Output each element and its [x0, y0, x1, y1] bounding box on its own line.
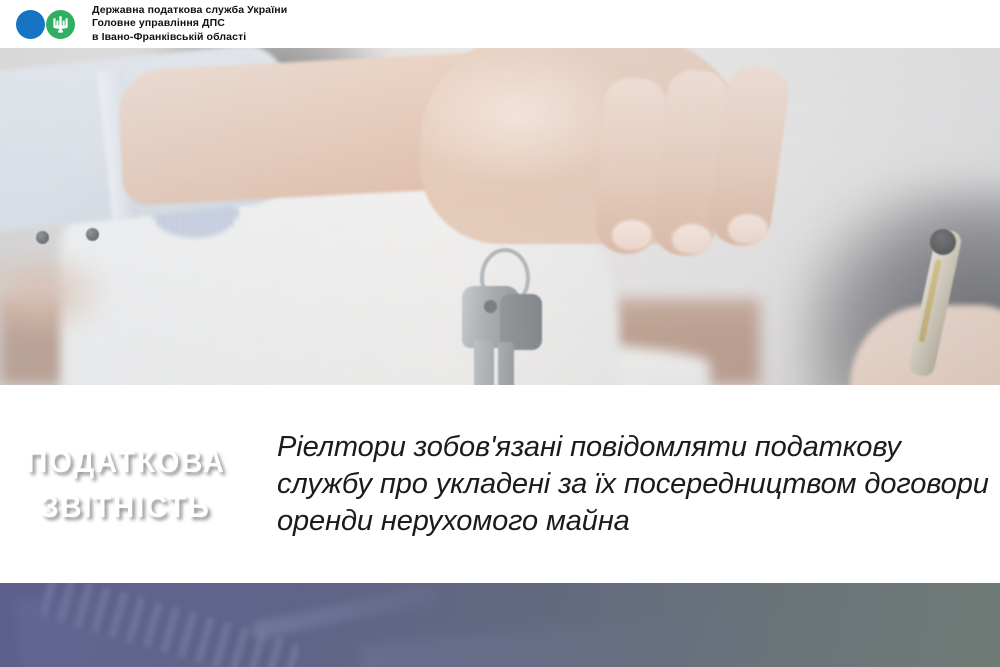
- photo-cool-overlay: [0, 48, 1000, 385]
- footer-tint-overlay: [0, 583, 1000, 667]
- banner-category-line-2: ЗВІТНІСТЬ: [41, 484, 211, 529]
- banner-vertical-divider: [258, 400, 260, 570]
- dps-logo[interactable]: [16, 9, 80, 39]
- site-header: Державна податкова служба України Головн…: [0, 0, 1000, 48]
- banner-headline: Ріелтори зобов'язані повідомляти податко…: [277, 429, 989, 540]
- page-root: Державна податкова служба України Головн…: [0, 0, 1000, 667]
- hero-photo: [0, 48, 1000, 385]
- announcement-banner: ПОДАТКОВА ЗВІТНІСТЬ Ріелтори зобов'язані…: [0, 385, 1000, 583]
- banner-category-line-1: ПОДАТКОВА: [26, 439, 225, 484]
- org-line-2: Головне управління ДПС: [92, 17, 287, 30]
- dps-logo-green-trident: [46, 10, 75, 39]
- dps-logo-blue-circle: [16, 10, 45, 39]
- org-line-3: в Івано-Франківській області: [92, 31, 287, 44]
- banner-category-label: ПОДАТКОВА ЗВІТНІСТЬ: [0, 385, 258, 583]
- org-line-1: Державна податкова служба України: [92, 4, 287, 17]
- organization-title: Державна податкова служба України Головн…: [92, 4, 287, 44]
- banner-headline-wrap: Ріелтори зобов'язані повідомляти податко…: [277, 385, 989, 583]
- footer-image-strip: [0, 583, 1000, 667]
